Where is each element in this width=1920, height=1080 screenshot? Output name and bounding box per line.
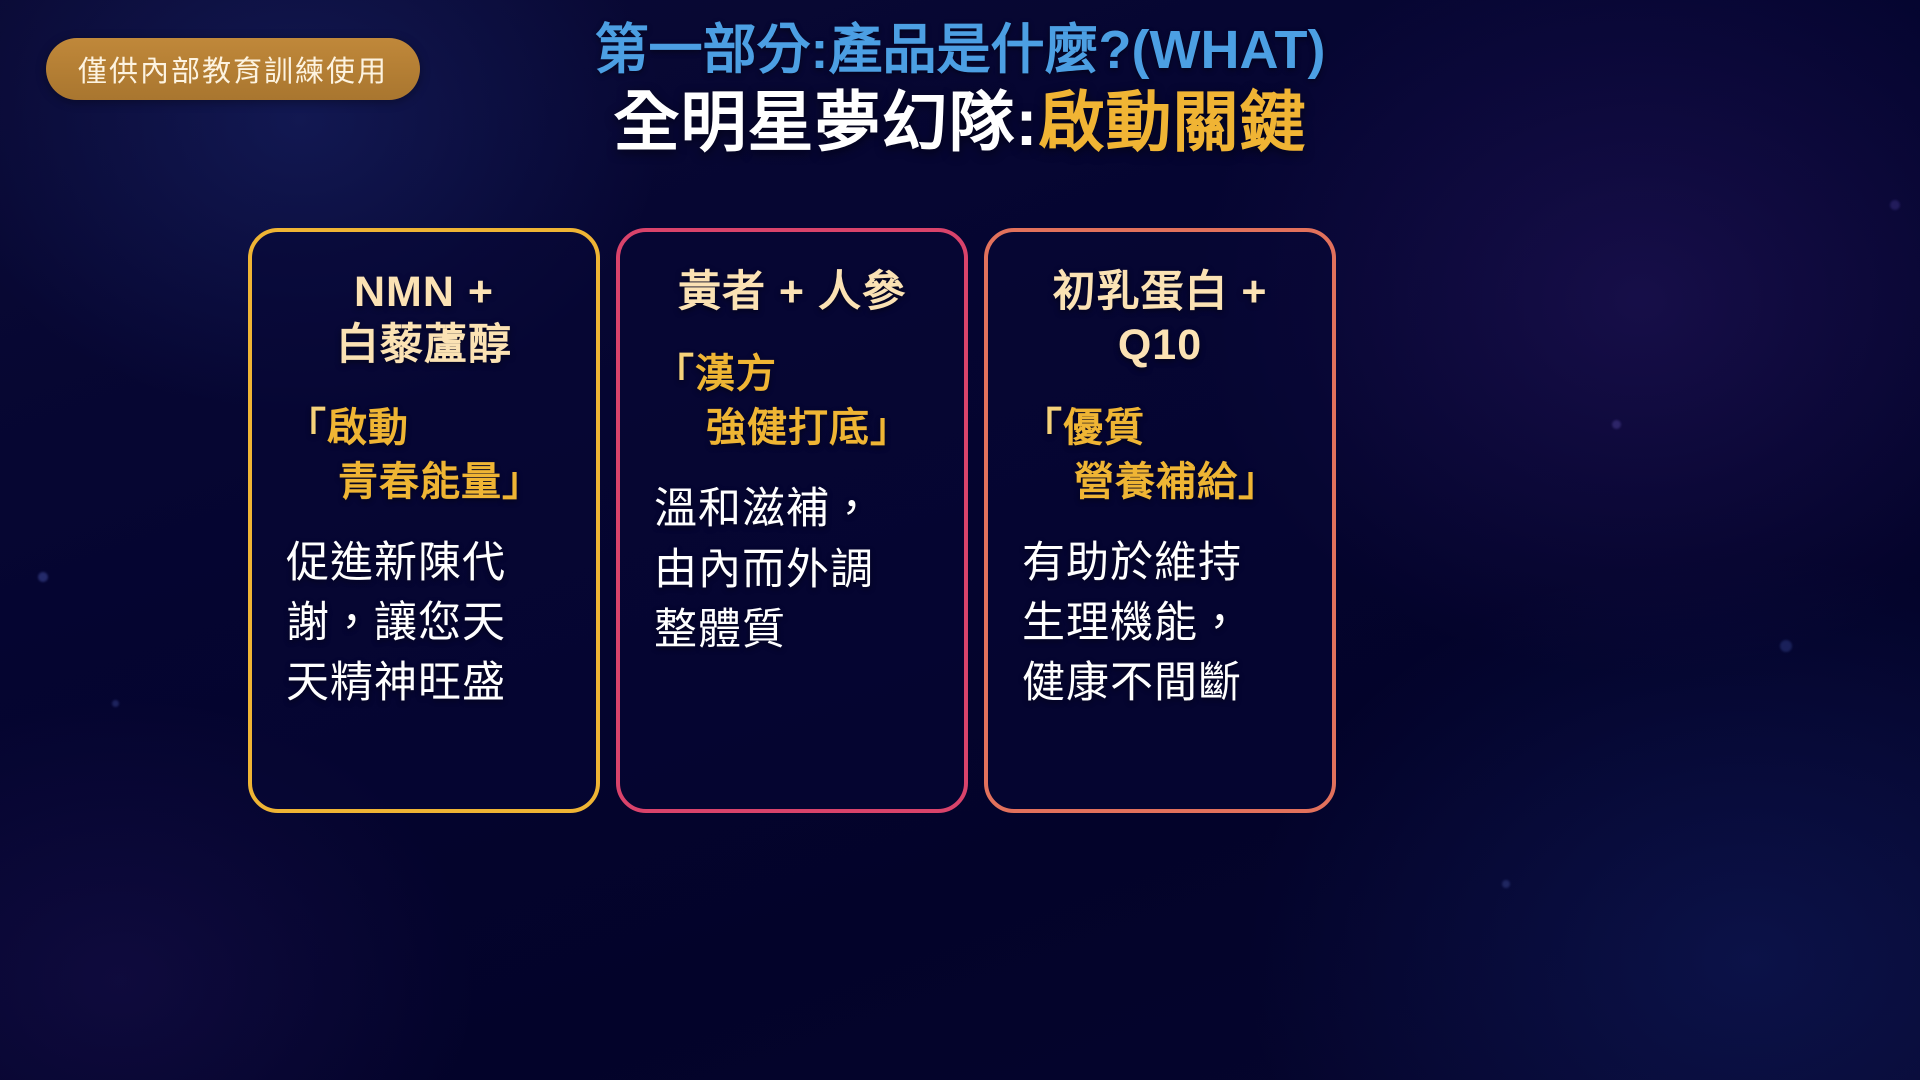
page-title: 全明星夢幻隊:啟動關鍵 — [0, 84, 1920, 162]
card-row: NMN + 白藜蘆醇 「啟動青春能量」 促進新陳代 謝，讓您天 天精神旺盛 黃者… — [248, 228, 1356, 813]
bokeh-dot — [38, 572, 48, 582]
slide-header: 僅供內部教育訓練使用 第一部分:產品是什麼?(WHAT) 全明星夢幻隊:啟動關鍵 — [0, 0, 1920, 230]
ingredient-card-description: 溫和滋補， 由內而外調 整體質 — [636, 479, 948, 660]
ingredient-card: 黃者 + 人參 「漢方強健打底」 溫和滋補， 由內而外調 整體質 — [616, 228, 968, 813]
ingredient-card: NMN + 白藜蘆醇 「啟動青春能量」 促進新陳代 謝，讓您天 天精神旺盛 — [248, 228, 600, 813]
bokeh-dot — [1780, 640, 1792, 652]
slogan-line-1: 漢方 — [695, 352, 777, 396]
slogan-open-quote: 「 — [286, 406, 327, 450]
slogan-line-2: 營養補給」 — [1074, 460, 1279, 504]
ingredient-card-title: NMN + 白藜蘆醇 — [336, 266, 512, 373]
ingredient-card-description: 促進新陳代 謝，讓您天 天精神旺盛 — [268, 533, 580, 714]
bokeh-dot — [1612, 420, 1621, 429]
slogan-line-2: 青春能量」 — [338, 460, 543, 504]
slogan-line-1: 優質 — [1063, 406, 1145, 450]
bokeh-dot — [112, 700, 119, 707]
slogan-open-quote: 「 — [1022, 406, 1063, 450]
slide-canvas: 僅供內部教育訓練使用 第一部分:產品是什麼?(WHAT) 全明星夢幻隊:啟動關鍵… — [0, 0, 1920, 1080]
ingredient-card-title: 初乳蛋白 + Q10 — [1052, 266, 1267, 373]
ingredient-card-slogan: 「啟動青春能量」 — [268, 401, 580, 509]
slogan-line-1: 啟動 — [327, 406, 409, 450]
slogan-line-2: 強健打底」 — [706, 406, 911, 450]
slogan-open-quote: 「 — [654, 352, 695, 396]
title-block: 第一部分:產品是什麼?(WHAT) 全明星夢幻隊:啟動關鍵 — [0, 20, 1920, 162]
section-part-label: 第一部分:產品是什麼?(WHAT) — [0, 20, 1920, 80]
page-title-highlight: 啟動關鍵 — [1038, 85, 1306, 159]
bokeh-dot — [1502, 880, 1510, 888]
ingredient-card-slogan: 「漢方強健打底」 — [636, 347, 948, 455]
ingredient-card-description: 有助於維持 生理機能， 健康不間斷 — [1004, 533, 1316, 714]
ingredient-card: 初乳蛋白 + Q10 「優質營養補給」 有助於維持 生理機能， 健康不間斷 — [984, 228, 1336, 813]
page-title-main: 全明星夢幻隊: — [614, 85, 1039, 159]
ingredient-card-title: 黃者 + 人參 — [678, 266, 906, 319]
ingredient-card-slogan: 「優質營養補給」 — [1004, 401, 1316, 509]
